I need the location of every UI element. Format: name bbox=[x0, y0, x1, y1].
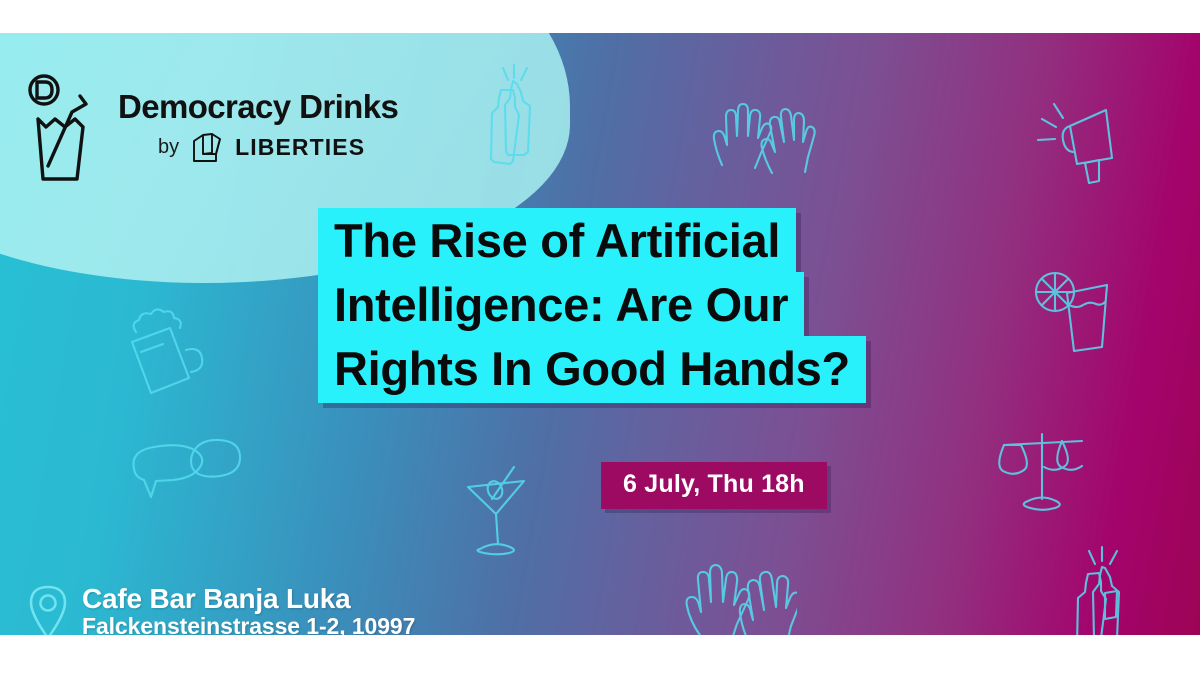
democracy-drinks-glass-icon bbox=[26, 70, 104, 185]
title-line-3: Rights In Good Hands? bbox=[318, 336, 866, 403]
clinking-bottles-icon bbox=[468, 58, 558, 168]
venue-address: Falckensteinstrasse 1-2, 10997 bbox=[82, 614, 415, 635]
event-date-badge: 6 July, Thu 18h bbox=[601, 462, 827, 509]
title-line-1: The Rise of Artificial bbox=[318, 208, 796, 275]
poster-title: The Rise of Artificial Intelligence: Are… bbox=[318, 208, 938, 403]
title-line-2: Intelligence: Are Our bbox=[318, 272, 804, 339]
liberties-cube-icon bbox=[190, 132, 224, 164]
by-label: by bbox=[158, 136, 179, 159]
venue-name: Cafe Bar Banja Luka bbox=[82, 584, 415, 614]
lemon-glass-icon bbox=[1022, 263, 1127, 368]
martini-glass-icon bbox=[452, 461, 542, 561]
brand-copy: Democracy Drinks by LIBERTIES bbox=[118, 68, 398, 164]
venue-block: Cafe Bar Banja Luka Falckensteinstrasse … bbox=[28, 584, 415, 635]
venue-text: Cafe Bar Banja Luka Falckensteinstrasse … bbox=[82, 584, 415, 635]
megaphone-icon bbox=[1032, 88, 1137, 193]
raised-hands-icon bbox=[700, 75, 820, 180]
scales-of-justice-icon bbox=[990, 421, 1095, 521]
brand-lockup: Democracy Drinks by LIBERTIES bbox=[26, 68, 398, 185]
brand-byline: by LIBERTIES bbox=[118, 132, 398, 164]
clinking-bottles-icon bbox=[1058, 538, 1153, 635]
brand-name: Democracy Drinks bbox=[118, 90, 398, 125]
beer-mug-icon bbox=[112, 305, 212, 405]
poster-artwork: Democracy Drinks by LIBERTIES bbox=[0, 33, 1200, 635]
open-hands-icon bbox=[672, 533, 797, 635]
partner-name: LIBERTIES bbox=[235, 134, 365, 161]
location-pin-icon bbox=[28, 584, 68, 635]
speech-bubbles-icon bbox=[118, 431, 243, 521]
event-poster: Democracy Drinks by LIBERTIES bbox=[0, 0, 1200, 677]
